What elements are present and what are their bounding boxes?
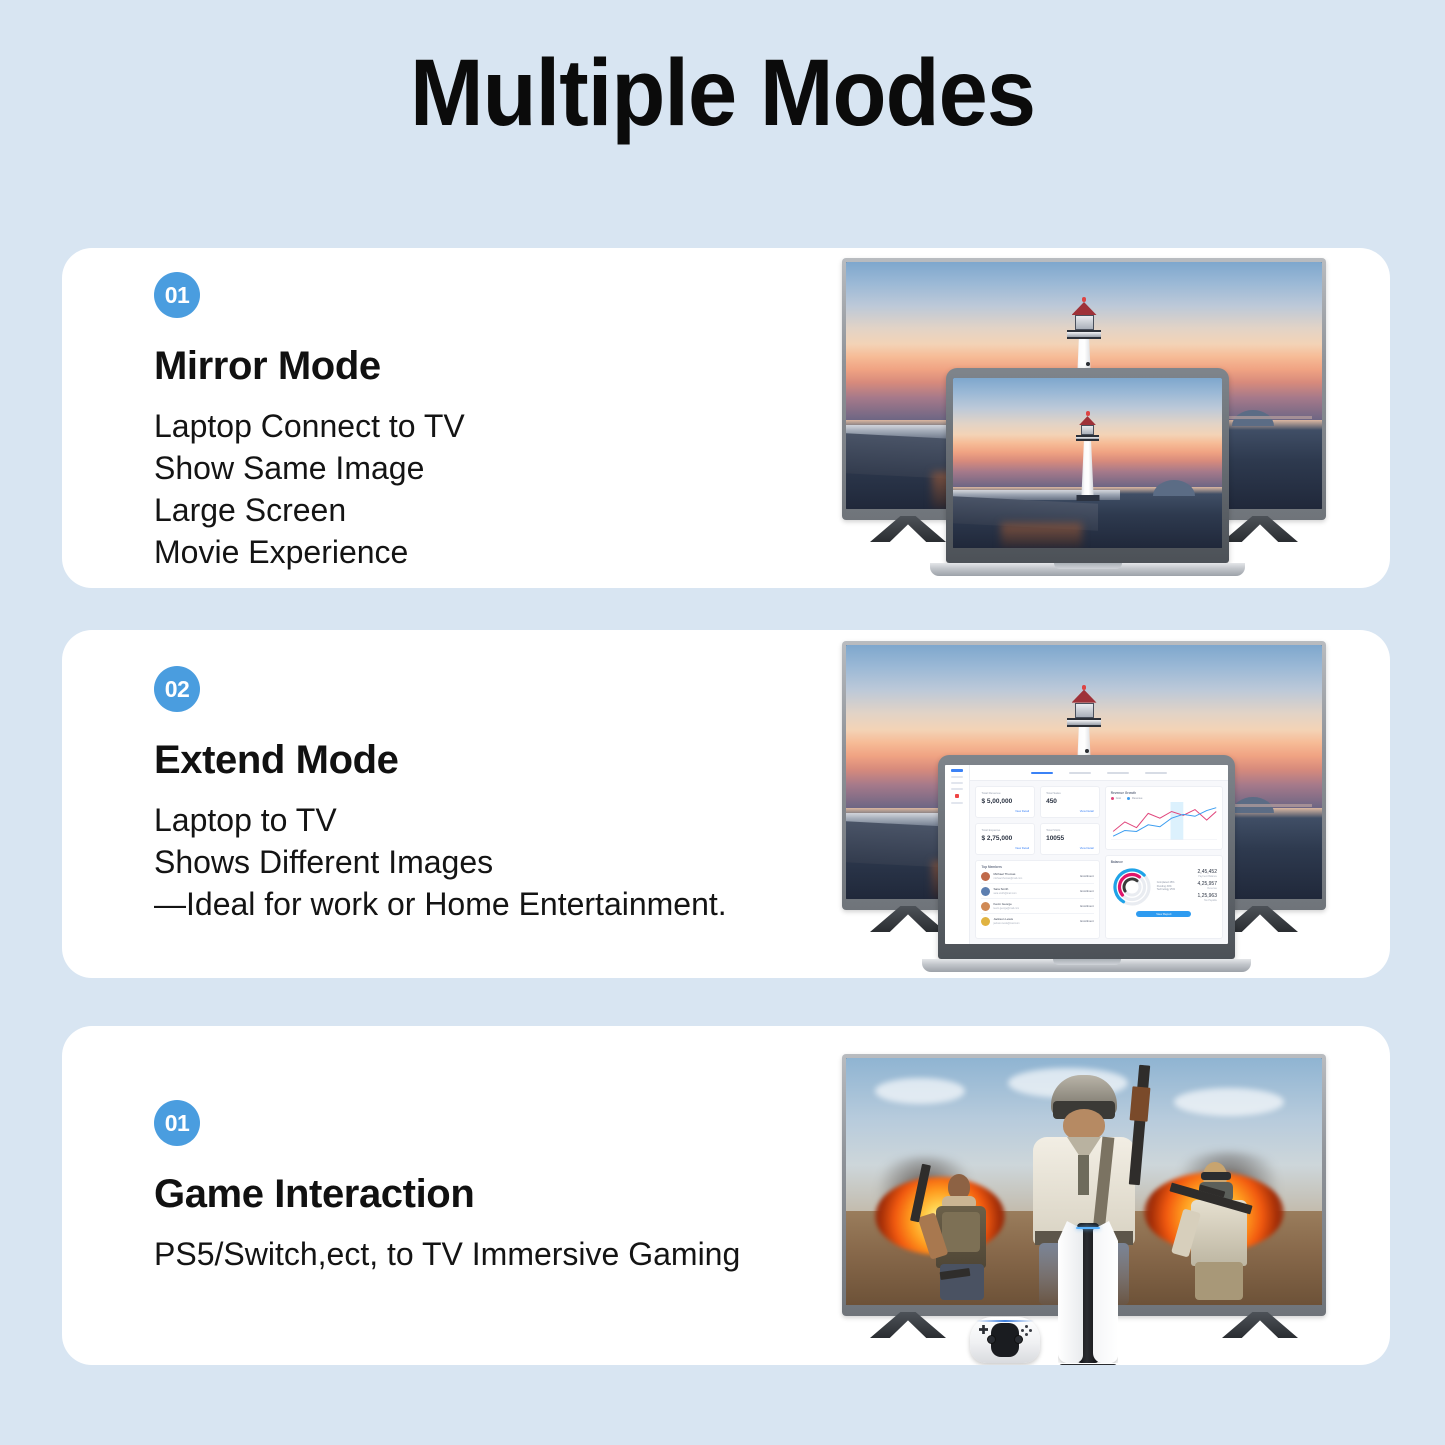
- mode-card-mirror: 01 Mirror Mode Laptop Connect to TV Show…: [62, 248, 1390, 588]
- webcam-icon: [1085, 749, 1089, 753]
- radial-donut-chart: [1111, 866, 1153, 908]
- laptop-base: [922, 959, 1251, 972]
- lighthouse-lantern: [1075, 315, 1094, 330]
- legend-entry: Revenue: [1127, 797, 1142, 800]
- legend-label: Revenue: [1132, 797, 1142, 800]
- kpi-row: Total Expense $ 2,75,000 View Detail Tot…: [975, 823, 1099, 855]
- kpi-link[interactable]: View Detail: [981, 809, 1029, 813]
- legend-label: Technology: [1157, 888, 1170, 891]
- kpi-value: $ 5,00,000: [981, 798, 1029, 805]
- kpi-label: Total Sales: [1046, 791, 1094, 795]
- webcam-icon: [1086, 362, 1090, 366]
- lighthouse-tower: [1079, 441, 1097, 497]
- tv-foot-left: [870, 1312, 946, 1338]
- kpi-link[interactable]: View Detail: [981, 846, 1029, 850]
- mode-card-game: 01 Game Interaction PS5/Switch,ect, to T…: [62, 1026, 1390, 1365]
- kpi-label: Total Visits: [1046, 828, 1094, 832]
- avatar: [981, 887, 990, 896]
- member-email: jackson.lewis@mail.com: [993, 922, 1077, 925]
- soldier-legs: [1195, 1262, 1243, 1300]
- soldier-tie: [1078, 1155, 1089, 1195]
- legend-swatch-revenue: [1127, 797, 1130, 800]
- figure-value: 2,45,452: [1198, 869, 1217, 875]
- left-analog-stick: [987, 1335, 996, 1344]
- card-media: MacBook Pro: [842, 248, 1334, 588]
- kpi-card: Total Sales 450 View Detail: [1040, 786, 1100, 818]
- balance-figures: 2,45,452 Payment Balance 4,25,957 Revenu…: [1198, 869, 1217, 905]
- dashboard-right-column: Revenue Growth Cost: [1105, 786, 1223, 939]
- lighthouse-base: [1076, 495, 1099, 501]
- card-text-block: 02 Extend Mode Laptop to TV Shows Differ…: [154, 630, 834, 978]
- member-email: michael.thomas@mail.com: [993, 877, 1077, 880]
- sidebar-item[interactable]: [951, 776, 963, 778]
- view-report-button[interactable]: View Report: [1136, 911, 1191, 917]
- kpi-card: Total Expense $ 2,75,000 View Detail: [975, 823, 1035, 855]
- figure-label: Tax Payable: [1198, 899, 1217, 902]
- card-text-block: 01 Game Interaction PS5/Switch,ect, to T…: [154, 1026, 834, 1365]
- member-value: Enrollment: [1080, 904, 1093, 908]
- description-line: Large Screen: [154, 490, 834, 532]
- series-line-revenue: [1113, 808, 1216, 837]
- kpi-link[interactable]: View Detail: [1046, 809, 1094, 813]
- member-name: Sara Smith: [993, 887, 1077, 891]
- ps5-stand: [1059, 1364, 1117, 1365]
- mode-card-extend: 02 Extend Mode Laptop to TV Shows Differ…: [62, 630, 1390, 978]
- soldier-right: [1173, 1160, 1265, 1300]
- member-email: kevin.george@mail.com: [993, 907, 1077, 910]
- kpi-value: $ 2,75,000: [981, 835, 1029, 842]
- step-badge: 02: [154, 666, 200, 712]
- ps5-right-panel: [1093, 1221, 1118, 1363]
- dashboard-sidebar[interactable]: [945, 765, 970, 944]
- laptop-lid: Total Revenue $ 5,00,000 View Detail Tot…: [938, 755, 1235, 959]
- laptop-lid: MacBook Pro: [946, 368, 1229, 563]
- laptop-base: [930, 563, 1245, 576]
- lighthouse-tip: [1082, 297, 1086, 302]
- dashboard-body: Total Revenue $ 5,00,000 View Detail Tot…: [970, 781, 1228, 944]
- list-item[interactable]: Michael Thomas michael.thomas@mail.com E…: [981, 869, 1093, 884]
- lighthouse-gallery: [1067, 718, 1101, 727]
- lighthouse-roof: [1072, 690, 1097, 703]
- lighthouse-gallery: [1067, 330, 1101, 339]
- card-heading: Mirror Mode: [154, 344, 834, 388]
- cloud: [875, 1078, 965, 1104]
- legend-label: Pending: [1157, 885, 1166, 888]
- description-line: Show Same Image: [154, 448, 834, 490]
- sidebar-item[interactable]: [951, 782, 963, 784]
- tv-foot-left: [870, 516, 946, 542]
- legend-value: 45%: [1169, 881, 1174, 884]
- sidebar-alert-icon[interactable]: [955, 794, 959, 798]
- kpi-label: Total Expense: [981, 828, 1029, 832]
- member-value: Enrollment: [1080, 874, 1093, 878]
- lighthouse-sunset-scene-mirrored: [953, 378, 1222, 548]
- rifle-stock: [1130, 1086, 1151, 1121]
- legend-label: Completed: [1157, 881, 1169, 884]
- chart-legend: Cost Revenue: [1111, 797, 1217, 800]
- tab-sales[interactable]: [1069, 772, 1091, 774]
- figure-value: 1,25,963: [1198, 893, 1217, 899]
- page-title: Multiple Modes: [51, 44, 1395, 144]
- tab-product[interactable]: [1107, 772, 1129, 774]
- avatar: [981, 917, 990, 926]
- card-heading: Game Interaction: [154, 1172, 834, 1216]
- dashboard-tabbar: [970, 765, 1228, 781]
- laptop-device: Total Revenue $ 5,00,000 View Detail Tot…: [938, 755, 1235, 972]
- tv-foot-right: [1222, 1312, 1298, 1338]
- member-value: Enrollment: [1080, 889, 1093, 893]
- dualsense-controller: [970, 1317, 1040, 1363]
- description-line: Movie Experience: [154, 532, 834, 574]
- top-members-card: Top Members Michael Thomas michael.thoma…: [975, 860, 1099, 939]
- figure-value: 4,25,957: [1198, 881, 1217, 887]
- ps5-left-panel: [1058, 1221, 1083, 1363]
- pier-warm-light: [1001, 523, 1082, 548]
- soldier-goggles: [1201, 1172, 1231, 1180]
- laptop-notch: [1054, 563, 1122, 569]
- list-item[interactable]: Jackson Lewis jackson.lewis@mail.com Enr…: [981, 914, 1093, 928]
- lighthouse-roof: [1079, 416, 1096, 425]
- ps5-console: [1052, 1221, 1124, 1365]
- soldier-vest: [942, 1212, 980, 1252]
- kpi-row: Total Revenue $ 5,00,000 View Detail Tot…: [975, 786, 1099, 818]
- tv-foot-right: [1222, 516, 1298, 542]
- laptop-notch: [1053, 959, 1121, 965]
- tv-foot-left: [870, 906, 946, 932]
- step-badge: 01: [154, 272, 200, 318]
- soldier-left: [922, 1170, 1008, 1300]
- legend-swatch-cost: [1111, 797, 1114, 800]
- kpi-value: 10055: [1046, 835, 1094, 842]
- controller-light-bar: [976, 1320, 1034, 1322]
- figure-label: Revenue: [1198, 887, 1217, 890]
- card-media: [842, 1026, 1334, 1365]
- description-line: Shows Different Images: [154, 842, 834, 884]
- step-badge: 01: [154, 1100, 200, 1146]
- lighthouse-roof: [1072, 302, 1097, 315]
- card-media: Total Revenue $ 5,00,000 View Detail Tot…: [842, 630, 1334, 978]
- balance-card: Balance: [1105, 855, 1223, 939]
- member-email: sara.smith@mail.com: [993, 892, 1077, 895]
- laptop-screen: Total Revenue $ 5,00,000 View Detail Tot…: [945, 765, 1228, 944]
- dashboard-main: Total Revenue $ 5,00,000 View Detail Tot…: [970, 765, 1228, 944]
- circle-button-icon: [1029, 1329, 1032, 1332]
- avatar: [981, 872, 990, 881]
- card-description: Laptop Connect to TV Show Same Image Lar…: [154, 406, 834, 574]
- chart-highlight-band: [1170, 802, 1183, 840]
- member-value: Enrollment: [1080, 919, 1093, 923]
- legend-value: 25%: [1170, 888, 1175, 891]
- kpi-link[interactable]: View Detail: [1046, 846, 1094, 850]
- kpi-value: 450: [1046, 798, 1094, 805]
- tab-due-date[interactable]: [1145, 772, 1167, 774]
- list-item[interactable]: Sara Smith sara.smith@mail.com Enrollmen…: [981, 884, 1093, 899]
- member-name: Jackson Lewis: [993, 917, 1077, 921]
- list-item[interactable]: Kevin George kevin.george@mail.com Enrol…: [981, 899, 1093, 914]
- app-logo: [951, 769, 963, 772]
- laptop-screen: [953, 378, 1222, 548]
- description-line: Laptop Connect to TV: [154, 406, 834, 448]
- lighthouse: [1076, 411, 1100, 497]
- kpi-label: Total Revenue: [981, 791, 1029, 795]
- right-analog-stick: [1014, 1335, 1023, 1344]
- legend-entry: Cost: [1111, 797, 1121, 800]
- donut-legend: Completed 45% Pending 30%: [1157, 881, 1175, 892]
- card-heading: Extend Mode: [154, 738, 834, 782]
- lighthouse-lantern: [1075, 703, 1094, 718]
- avatar: [981, 902, 990, 911]
- figure-label: Payment Balance: [1198, 875, 1217, 878]
- description-line: —Ideal for work or Home Entertainment.: [154, 884, 834, 926]
- sidebar-item[interactable]: [951, 788, 963, 790]
- lighthouse-lantern: [1081, 425, 1094, 435]
- member-name: Michael Thomas: [993, 872, 1077, 876]
- card-text-block: 01 Mirror Mode Laptop Connect to TV Show…: [154, 248, 834, 588]
- member-name: Kevin George: [993, 902, 1077, 906]
- description-line: Laptop to TV: [154, 800, 834, 842]
- sidebar-item[interactable]: [951, 802, 963, 804]
- kpi-card: Total Revenue $ 5,00,000 View Detail: [975, 786, 1035, 818]
- rifle-icon: [1129, 1065, 1150, 1186]
- lighthouse-gallery: [1076, 435, 1099, 441]
- legend-value: 30%: [1167, 885, 1172, 888]
- description-line: PS5/Switch,ect, to TV Immersive Gaming: [154, 1234, 834, 1276]
- card-title: Balance: [1111, 860, 1217, 864]
- line-chart: [1111, 802, 1217, 840]
- series-line-cost: [1113, 810, 1216, 832]
- laptop-device: MacBook Pro: [946, 368, 1229, 576]
- lighthouse-tip: [1082, 685, 1086, 690]
- analytics-dashboard: Total Revenue $ 5,00,000 View Detail Tot…: [945, 765, 1228, 944]
- kpi-card: Total Visits 10055 View Detail: [1040, 823, 1100, 855]
- triangle-button-icon: [1025, 1325, 1028, 1328]
- card-title: Revenue Growth: [1111, 791, 1217, 795]
- ps5-led-strip: [1076, 1227, 1100, 1229]
- donut-section: Completed 45% Pending 30%: [1111, 866, 1217, 908]
- face-buttons: [1021, 1325, 1032, 1336]
- legend-entry: Technology 25%: [1157, 888, 1175, 892]
- cross-button-icon: [1025, 1333, 1028, 1336]
- dashboard-left-column: Total Revenue $ 5,00,000 View Detail Tot…: [975, 786, 1099, 939]
- card-description: PS5/Switch,ect, to TV Immersive Gaming: [154, 1234, 834, 1276]
- lighthouse-tip: [1086, 411, 1090, 416]
- card-description: Laptop to TV Shows Different Images —Ide…: [154, 800, 834, 926]
- tab-dashboard[interactable]: [1031, 772, 1053, 774]
- square-button-icon: [1021, 1329, 1024, 1332]
- revenue-growth-chart-card: Revenue Growth Cost: [1105, 786, 1223, 849]
- cloud: [1174, 1088, 1284, 1116]
- legend-label: Cost: [1116, 797, 1121, 800]
